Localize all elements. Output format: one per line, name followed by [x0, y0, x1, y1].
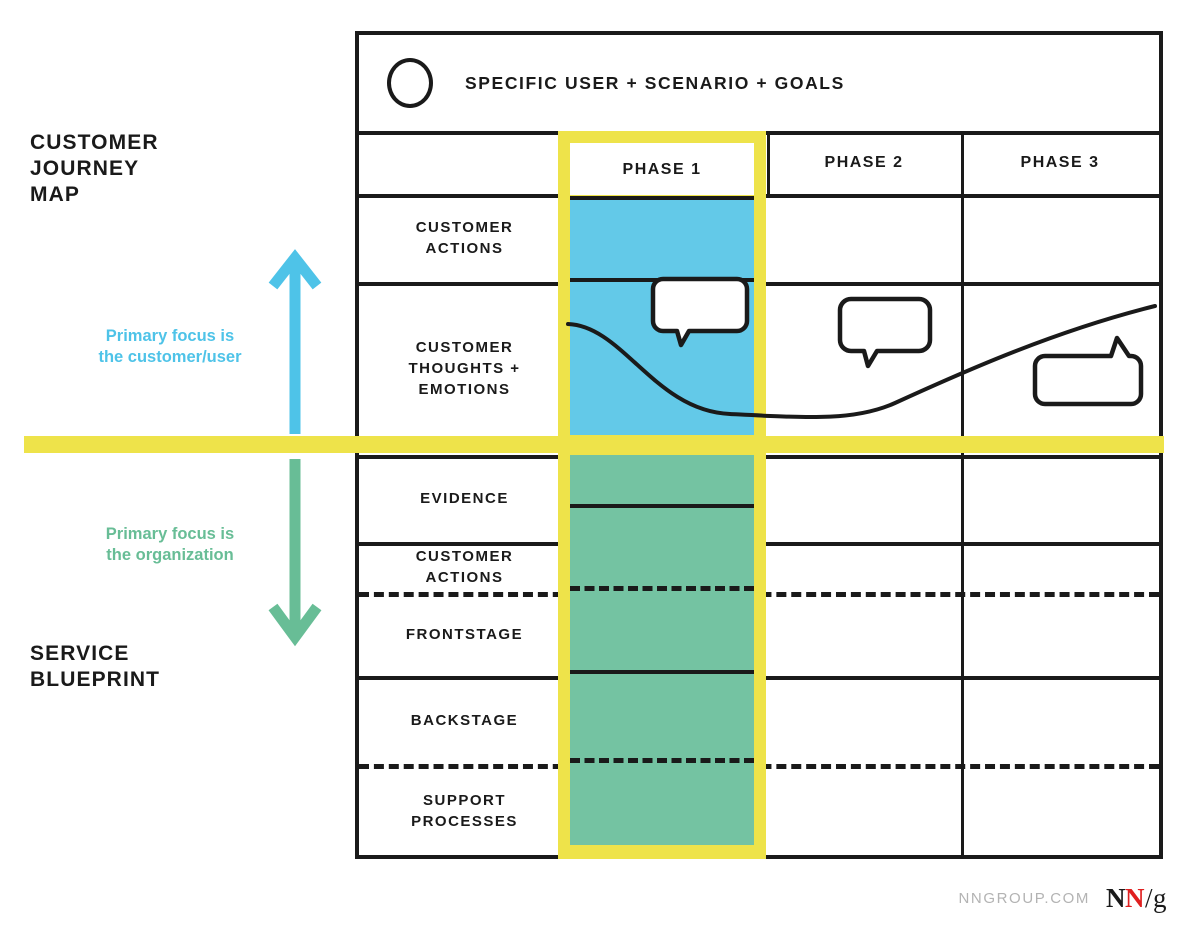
- logo-letter-g: g: [1153, 883, 1166, 914]
- divider-overlay-phase1-a: [570, 196, 754, 200]
- organization-focus-annotation: Primary focus is the organization: [80, 524, 260, 566]
- divider-overlay-phase1-b: [570, 278, 754, 282]
- dotted-divider-overlay-phase1-b: [570, 758, 754, 763]
- nng-logo[interactable]: N N / g: [1106, 883, 1166, 914]
- row-label-customer-actions-blueprint: CUSTOMER ACTIONS: [359, 542, 570, 592]
- divider-overlay-phase1-d: [570, 670, 754, 674]
- row-label-frontstage: FRONTSTAGE: [359, 592, 570, 676]
- logo-slash: /: [1145, 883, 1152, 914]
- scenario-header-row: SPECIFIC USER + SCENARIO + GOALS: [359, 35, 1159, 131]
- row-label-support-processes: SUPPORT PROCESSES: [359, 764, 570, 857]
- scenario-header-label: SPECIFIC USER + SCENARIO + GOALS: [465, 73, 845, 94]
- customer-journey-map-title: CUSTOMER JOURNEY MAP: [30, 130, 159, 208]
- footer: NNGROUP.COM N N / g: [958, 883, 1166, 914]
- divider-phase2-phase3: [961, 131, 964, 857]
- row-label-customer-thoughts-emotions: CUSTOMER THOUGHTS + EMOTIONS: [359, 282, 570, 455]
- journey-blueprint-divider-band: [24, 436, 1164, 453]
- customer-focus-annotation: Primary focus is the customer/user: [80, 326, 260, 368]
- logo-letter-n2: N: [1125, 883, 1144, 914]
- column-header-phase-1-highlighted[interactable]: PHASE 1: [570, 143, 754, 196]
- footer-url[interactable]: NNGROUP.COM: [958, 890, 1090, 907]
- divider-phase1-phase2-header: [767, 131, 770, 194]
- customer-journey-map-vs-service-blueprint-diagram: CUSTOMER JOURNEY MAP SERVICE BLUEPRINT P…: [0, 0, 1200, 936]
- column-header-phase-3[interactable]: PHASE 3: [961, 131, 1159, 194]
- logo-letter-n1: N: [1106, 883, 1125, 914]
- arrow-up-icon: [266, 246, 324, 436]
- arrow-down-icon: [266, 457, 324, 649]
- dotted-divider-overlay-phase1-a: [570, 586, 754, 591]
- row-label-customer-actions-journey: CUSTOMER ACTIONS: [359, 194, 570, 282]
- divider-overlay-phase1-c: [570, 504, 754, 508]
- phase-1-journey-fill: [570, 199, 754, 435]
- circle-icon: [387, 58, 433, 108]
- column-header-phase-2[interactable]: PHASE 2: [767, 131, 961, 194]
- phase-1-blueprint-fill: [570, 455, 754, 845]
- row-label-backstage: BACKSTAGE: [359, 676, 570, 764]
- row-label-evidence: EVIDENCE: [359, 455, 570, 542]
- service-blueprint-title: SERVICE BLUEPRINT: [30, 641, 160, 693]
